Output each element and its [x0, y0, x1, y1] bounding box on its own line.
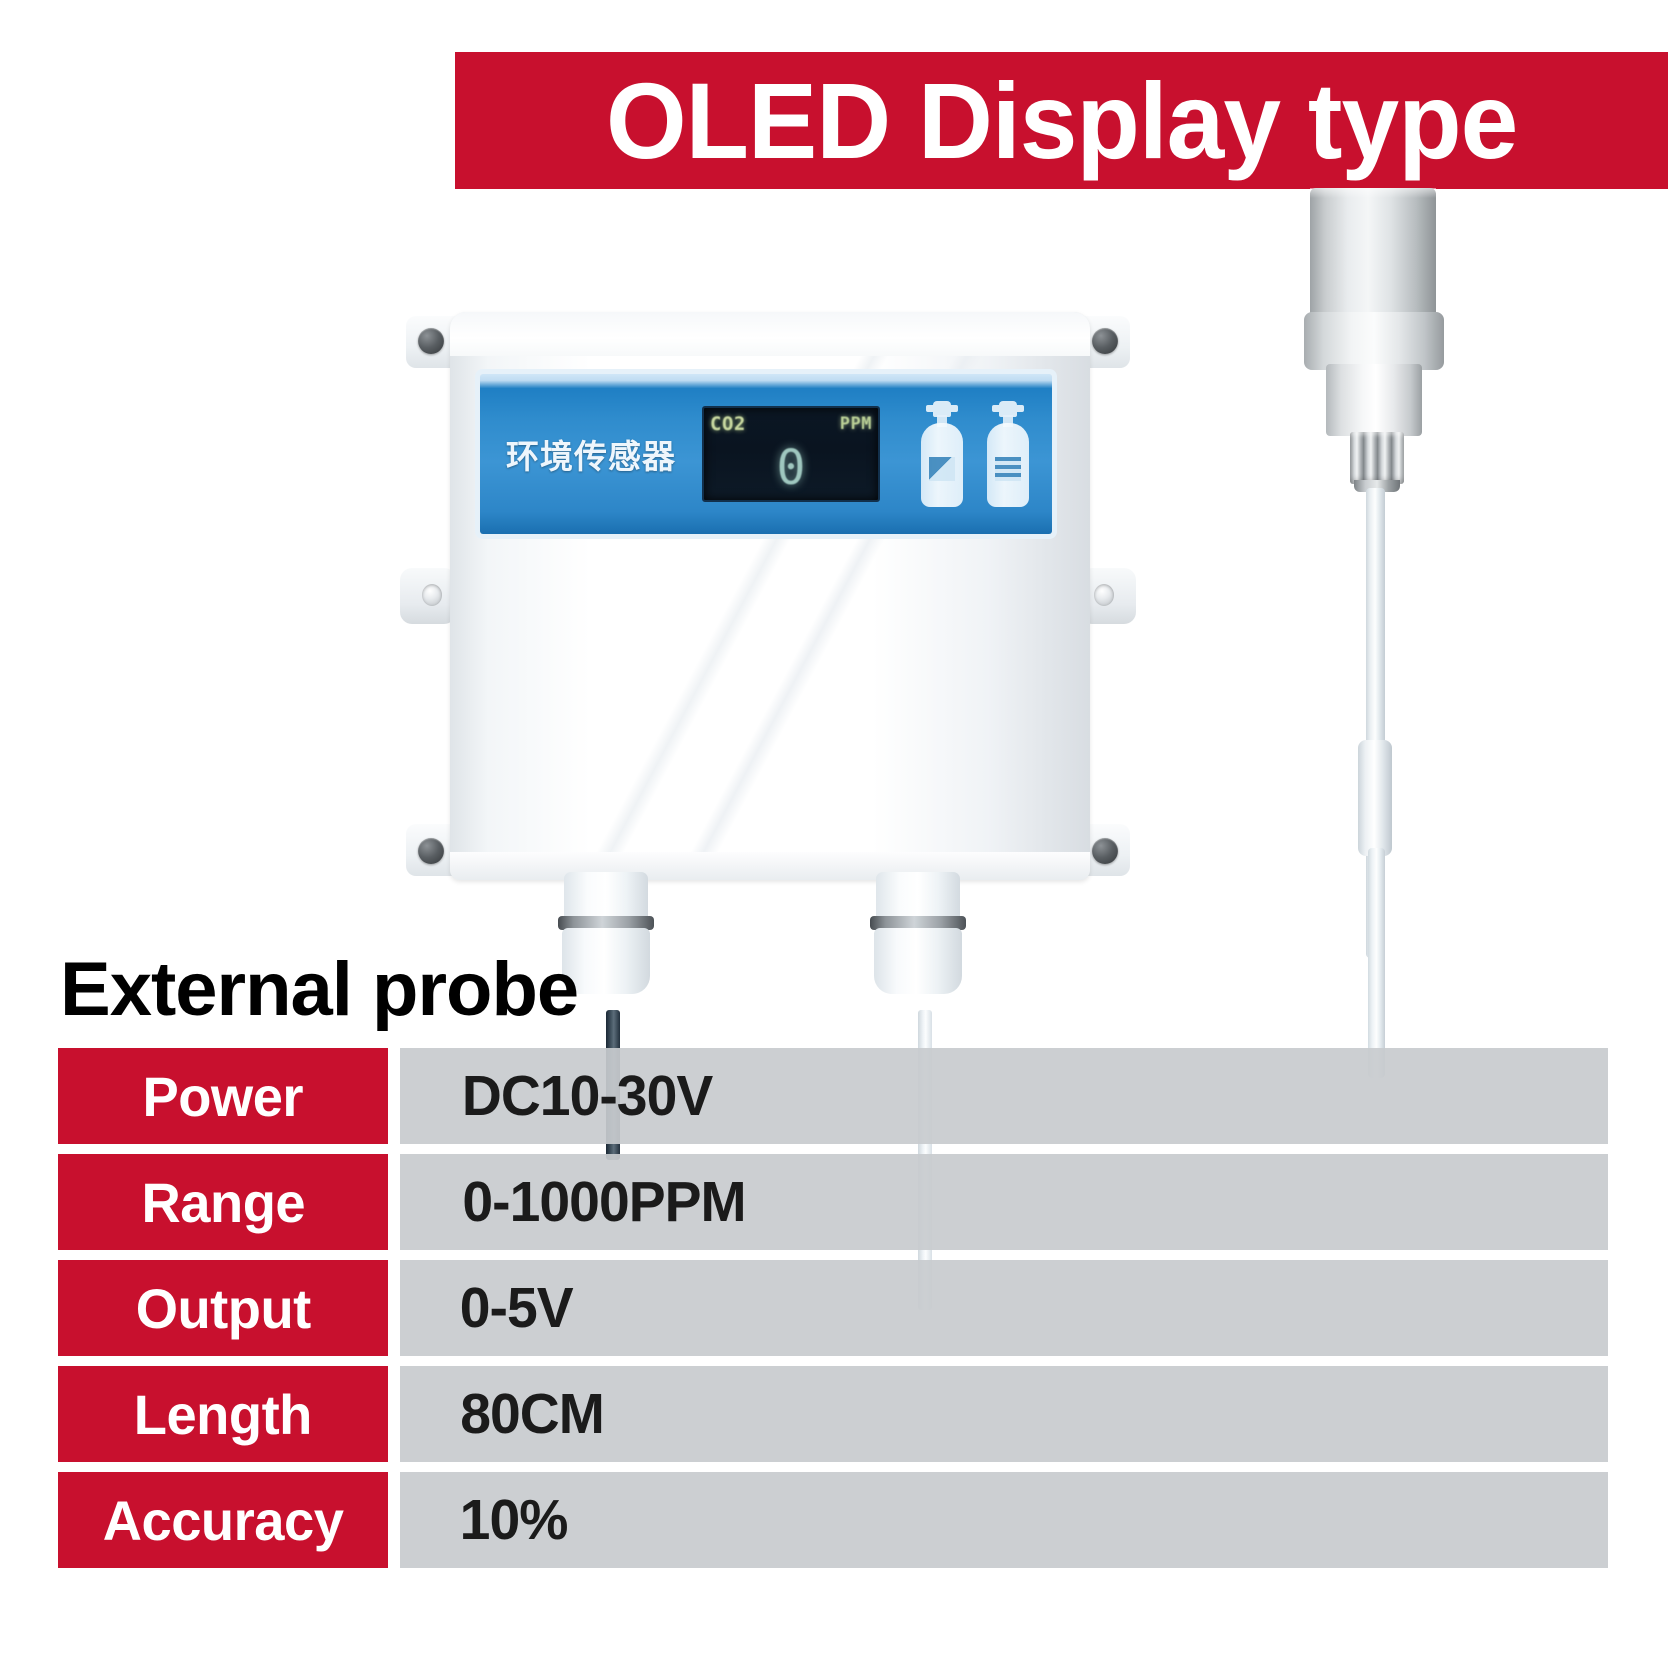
mount-lug-left: [400, 568, 456, 624]
oled-unit-label: PPM: [840, 414, 872, 434]
oled-reading-value: 0: [704, 444, 878, 492]
table-row: Power DC10-30V: [58, 1048, 1608, 1144]
probe-neck: [1326, 364, 1422, 436]
spec-key-cell: Length: [58, 1366, 388, 1462]
screw-bottom-right-icon: [1092, 838, 1118, 864]
spec-value-cell: 10%: [400, 1472, 1608, 1568]
cell-gap: [388, 1472, 400, 1568]
cell-gap: [388, 1048, 400, 1144]
spec-key-cell: Output: [58, 1260, 388, 1356]
spec-key-label: Accuracy: [103, 1488, 344, 1553]
panel-title-chinese: 环境传感器: [506, 430, 676, 478]
oled-display: CO2 PPM 0: [702, 406, 880, 502]
enclosure-bottom-edge: [450, 852, 1090, 880]
spec-value-cell: 0-1000PPM: [400, 1154, 1608, 1250]
product-image-canvas: OLED Display type: [0, 0, 1668, 1667]
spec-key-cell: Power: [58, 1048, 388, 1144]
screw-bottom-left-icon: [418, 838, 444, 864]
probe-connector: [1350, 432, 1404, 484]
cell-gap: [388, 1154, 400, 1250]
faceplate-panel: 环境传感器 CO2 PPM 0: [480, 374, 1052, 534]
gland-top: [876, 872, 960, 920]
table-row: Output 0-5V: [58, 1260, 1608, 1356]
probe-ferrule: [1358, 740, 1392, 856]
cell-gap: [388, 1260, 400, 1356]
oled-gas-label: CO2: [710, 413, 746, 435]
cylinder-marking: [929, 457, 955, 481]
probe-cable-lower: [1368, 848, 1385, 1078]
spec-value-cell: 80CM: [400, 1366, 1608, 1462]
probe-cap: [1310, 188, 1436, 316]
cylinder-marking: [995, 457, 1021, 481]
header-banner: OLED Display type: [455, 52, 1668, 189]
oled-header-row: CO2 PPM: [710, 413, 872, 435]
spec-key-label: Length: [134, 1382, 312, 1447]
sensor-device-graphic: 环境传感器 CO2 PPM 0: [392, 296, 1144, 896]
spec-value-label: 80CM: [460, 1381, 604, 1447]
spec-value-label: 10%: [460, 1487, 568, 1553]
cylinder-icon-group: [918, 401, 1036, 507]
screw-top-right-icon: [1092, 328, 1118, 354]
specification-table: Power DC10-30V Range 0-1000PPM Output 0-…: [58, 1048, 1608, 1578]
spec-key-cell: Accuracy: [58, 1472, 388, 1568]
section-heading-external-probe: External probe: [60, 946, 578, 1033]
table-row: Range 0-1000PPM: [58, 1154, 1608, 1250]
cell-gap: [388, 1366, 400, 1462]
spec-key-label: Output: [135, 1276, 310, 1341]
enclosure-top-edge: [450, 312, 1090, 356]
external-probe-graphic: [1300, 188, 1520, 1068]
spec-value-label: 0-1000PPM: [462, 1169, 745, 1235]
gland-nut: [874, 928, 962, 994]
banner-title: OLED Display type: [606, 67, 1517, 175]
spec-value-cell: 0-5V: [400, 1260, 1608, 1356]
cable-gland-right: [864, 872, 972, 994]
mount-hole-left-icon: [422, 584, 442, 606]
table-row: Accuracy 10%: [58, 1472, 1608, 1568]
spec-key-label: Power: [143, 1064, 304, 1129]
spec-value-label: 0-5V: [460, 1275, 573, 1341]
spec-value-label: DC10-30V: [462, 1063, 712, 1129]
probe-shoulder: [1304, 312, 1444, 370]
gland-top: [564, 872, 648, 920]
spec-key-cell: Range: [58, 1154, 388, 1250]
gas-cylinder-left-icon: [918, 401, 966, 507]
spec-key-label: Range: [141, 1170, 305, 1235]
gas-cylinder-right-icon: [984, 401, 1032, 507]
spec-value-cell: DC10-30V: [400, 1048, 1608, 1144]
table-row: Length 80CM: [58, 1366, 1608, 1462]
screw-top-left-icon: [418, 328, 444, 354]
mount-hole-right-icon: [1094, 584, 1114, 606]
